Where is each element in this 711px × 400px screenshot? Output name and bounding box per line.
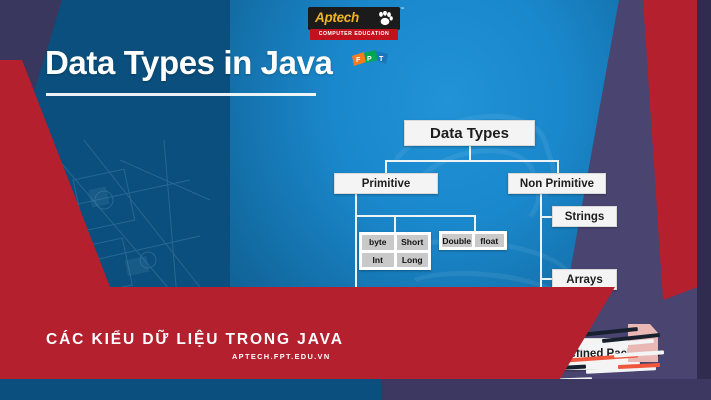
aptech-logo: Aptech ™ COMPUTER EDUCATION xyxy=(308,7,400,43)
connector xyxy=(394,215,396,233)
slide-canvas: Data Types in Java F P T Aptech ™ COMPUT… xyxy=(0,0,711,400)
node-label: Primitive xyxy=(362,178,411,190)
node-data-types[interactable]: Data Types xyxy=(404,120,535,146)
connector xyxy=(355,215,476,217)
node-primitive[interactable]: Primitive xyxy=(334,173,438,194)
node-label: Non Primitive xyxy=(520,178,594,190)
connector xyxy=(385,160,387,174)
node-integer-types-grid[interactable]: byte Short Int Long xyxy=(359,232,431,270)
logo-tagline-plate: COMPUTER EDUCATION xyxy=(310,29,398,40)
logo-tagline-text: COMPUTER EDUCATION xyxy=(310,29,398,40)
banner-url: APTECH.FPT.EDU.VN xyxy=(232,352,532,361)
svg-text:P: P xyxy=(367,56,372,63)
svg-text:T: T xyxy=(379,56,384,63)
page-title: Data Types in Java xyxy=(45,44,333,82)
fpt-logo: F P T xyxy=(350,50,390,70)
bottom-strip-purple xyxy=(381,379,711,400)
node-strings[interactable]: Strings xyxy=(552,206,617,227)
trademark-symbol: ™ xyxy=(400,6,404,11)
connector xyxy=(557,160,559,174)
cell-byte[interactable]: byte xyxy=(361,234,395,251)
node-label: Arrays xyxy=(566,274,602,286)
node-non-primitive[interactable]: Non Primitive xyxy=(508,173,606,194)
connector xyxy=(474,215,476,231)
logo-brand-text: Aptech xyxy=(315,10,359,25)
paw-print-icon xyxy=(377,11,393,26)
cell-float[interactable]: float xyxy=(474,233,506,248)
title-underline xyxy=(46,93,316,96)
svg-text:F: F xyxy=(356,57,361,64)
connector xyxy=(385,160,559,162)
node-label: Strings xyxy=(565,211,605,223)
cell-long[interactable]: Long xyxy=(396,252,430,269)
node-label: Data Types xyxy=(430,125,509,142)
connector xyxy=(469,145,471,161)
node-arrays[interactable]: Arrays xyxy=(552,269,617,290)
cell-short[interactable]: Short xyxy=(396,234,430,251)
banner-title: CÁC KIỂU DỮ LIỆU TRONG JAVA xyxy=(46,331,546,349)
cell-int[interactable]: Int xyxy=(361,252,395,269)
cell-double[interactable]: Double xyxy=(441,233,473,248)
node-float-types-grid[interactable]: Double float xyxy=(439,231,507,250)
